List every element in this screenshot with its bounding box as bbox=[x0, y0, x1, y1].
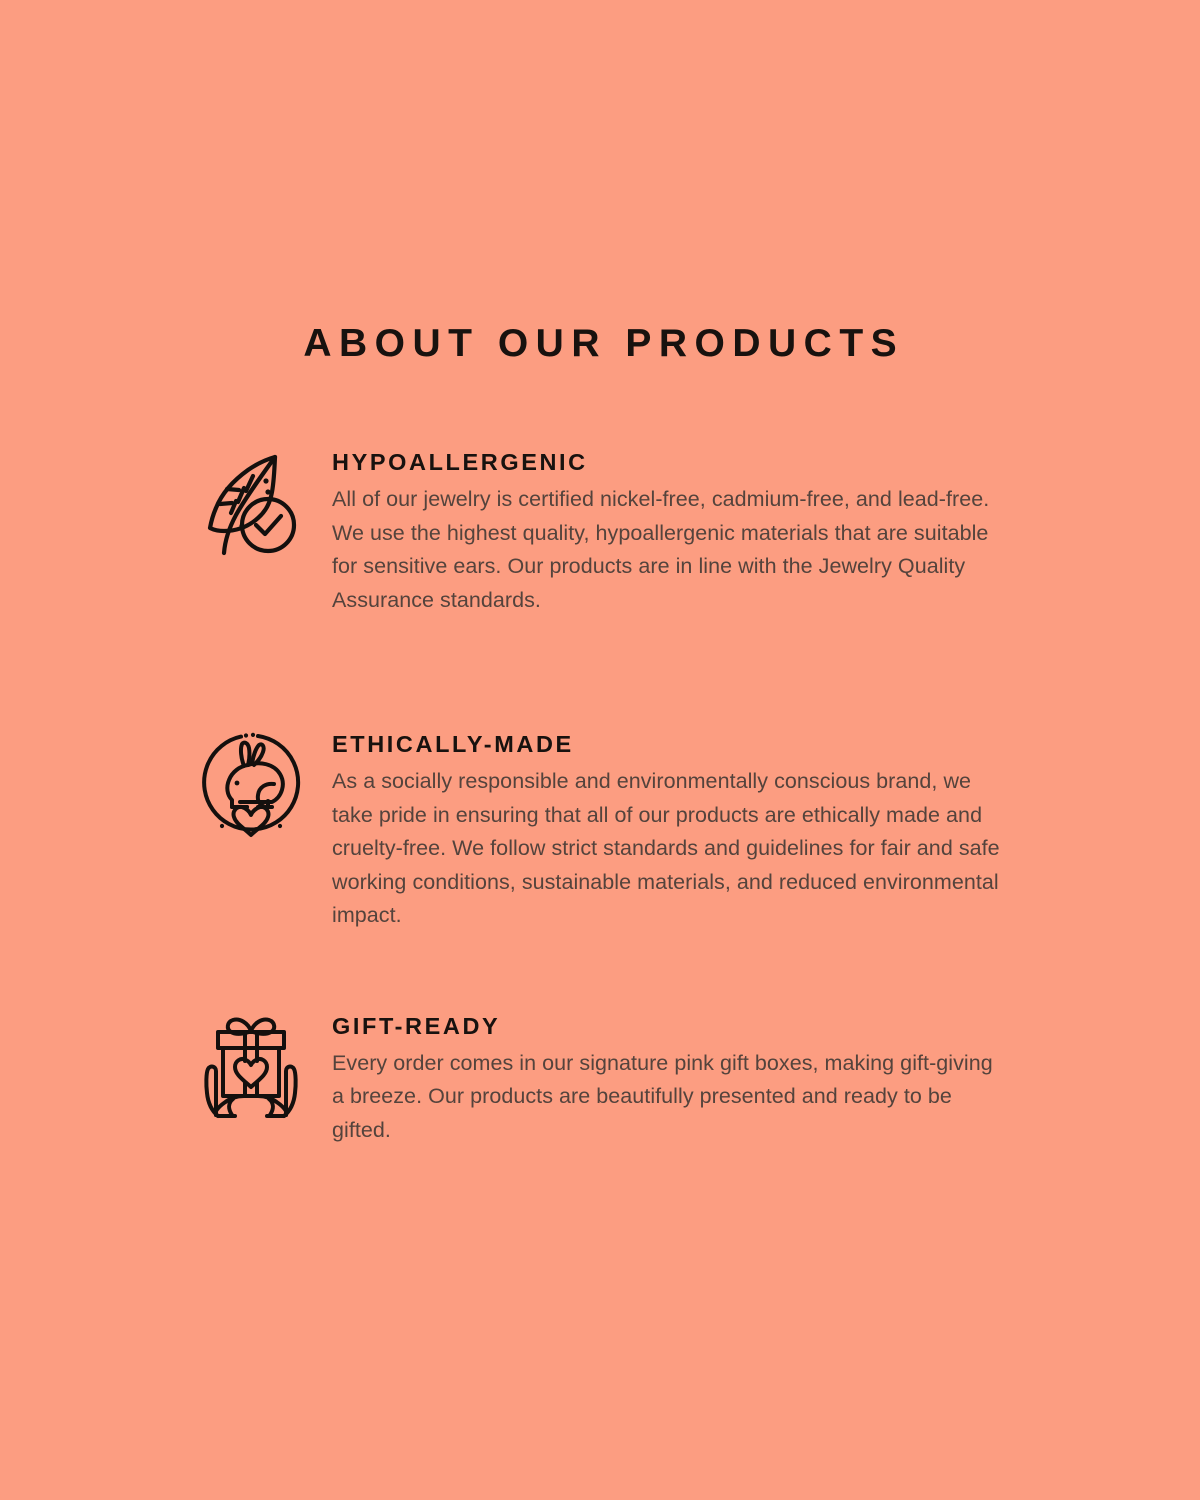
feature-description: Every order comes in our signature pink … bbox=[332, 1047, 1000, 1148]
feature-item-hypoallergenic: HYPOALLERGENIC All of our jewelry is cer… bbox=[196, 447, 1016, 617]
feature-description: All of our jewelry is certified nickel-f… bbox=[332, 483, 1000, 617]
feature-heading: GIFT-READY bbox=[332, 1013, 1000, 1040]
feature-heading: HYPOALLERGENIC bbox=[332, 449, 1000, 476]
feature-description: As a socially responsible and environmen… bbox=[332, 765, 1000, 933]
page-title: ABOUT OUR PRODUCTS bbox=[0, 323, 1200, 366]
feature-text-block: HYPOALLERGENIC All of our jewelry is cer… bbox=[332, 447, 1000, 617]
feature-list: HYPOALLERGENIC All of our jewelry is cer… bbox=[196, 447, 1016, 1147]
rabbit-heart-circle-icon bbox=[196, 729, 332, 847]
feature-heading: ETHICALLY-MADE bbox=[332, 731, 1000, 758]
feature-text-block: GIFT-READY Every order comes in our sign… bbox=[332, 1011, 1000, 1148]
about-products-page: ABOUT OUR PRODUCTS bbox=[0, 0, 1200, 1500]
feather-check-icon bbox=[196, 447, 332, 565]
gift-hands-heart-icon bbox=[196, 1011, 332, 1129]
feature-item-ethically-made: ETHICALLY-MADE As a socially responsible… bbox=[196, 729, 1016, 933]
feature-item-gift-ready: GIFT-READY Every order comes in our sign… bbox=[196, 1011, 1016, 1148]
feature-text-block: ETHICALLY-MADE As a socially responsible… bbox=[332, 729, 1000, 933]
